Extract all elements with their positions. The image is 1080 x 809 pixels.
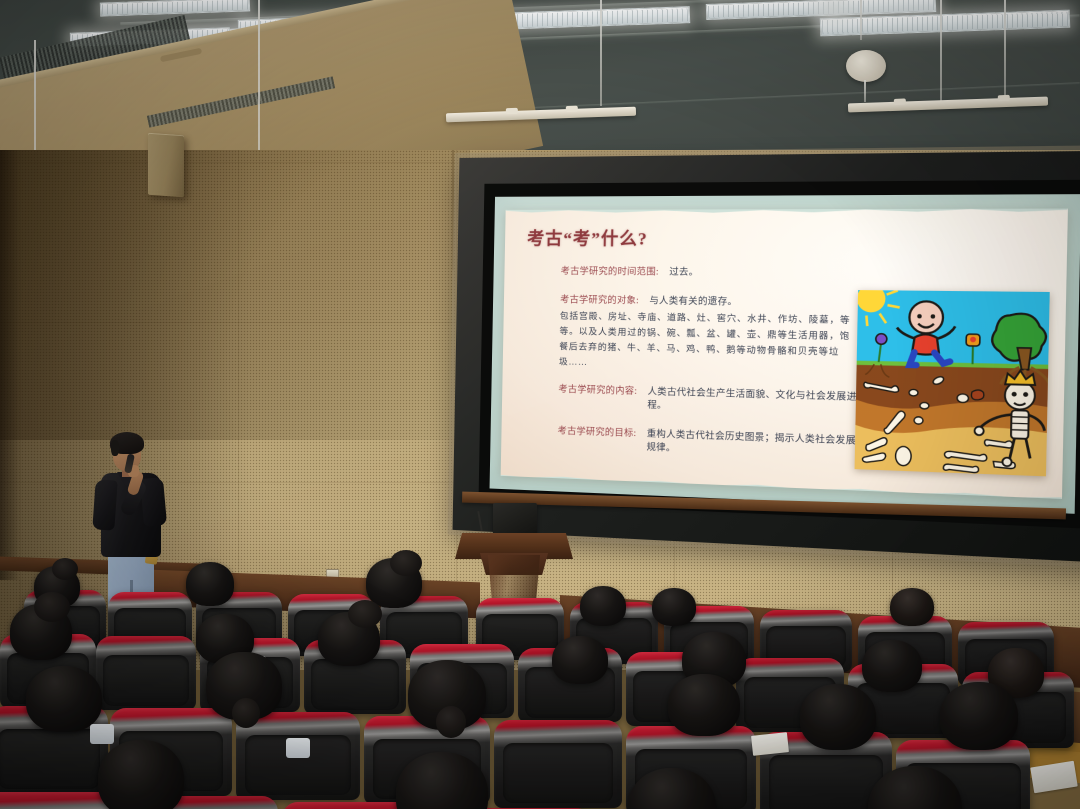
audience-head: [26, 666, 102, 732]
audience-hair-bun: [34, 592, 70, 622]
row-label: 考古学研究的内容:: [558, 381, 637, 396]
slide-row-subject: 考古学研究的对象: 与人类有关的遗存。: [560, 292, 860, 309]
pendant-cap: [506, 108, 518, 114]
audience-head: [552, 636, 608, 684]
wall-corner: [0, 150, 20, 580]
seat[interactable]: [96, 636, 196, 710]
row-value: 过去。: [669, 264, 699, 278]
light-hang-wire: [1004, 0, 1006, 98]
audience-head: [940, 682, 1018, 750]
light-hang-wire: [864, 80, 866, 102]
slide: 考古“考”什么? 考古学研究的时间范围: 过去。 考古学研究的对象: 与人类有关…: [490, 194, 1080, 514]
audience-seating: [0, 556, 1080, 809]
audience-head: [186, 562, 234, 606]
audience-head: [890, 588, 934, 626]
light-hang-wire: [940, 0, 942, 104]
presenter-sleeve-left: [92, 479, 117, 530]
row-label: 考古学研究的时间范围:: [561, 263, 659, 277]
audience-head: [580, 586, 626, 626]
presenter-sideburn: [111, 440, 119, 456]
slide-title: 考古“考”什么?: [527, 224, 1048, 251]
row-value: 人类古代社会生产生活面貌、文化与社会发展进程。: [647, 384, 858, 417]
light-hang-wire: [600, 0, 602, 106]
seat[interactable]: [494, 720, 622, 808]
ceiling-light-panel: [100, 0, 250, 17]
audience-hair-bun: [390, 550, 422, 576]
pendant-cap: [998, 95, 1010, 101]
archaeology-cartoon-illustration: [854, 290, 1049, 476]
audience-head: [668, 674, 740, 736]
audience-hair-bun: [348, 600, 382, 628]
audience-hair-bun: [52, 558, 78, 580]
pendant-cap: [894, 98, 906, 104]
handout-paper: [1030, 761, 1078, 794]
ceiling-speaker-disc: [846, 50, 886, 82]
audience-head: [652, 588, 696, 626]
wall-seam: [452, 150, 454, 270]
pendant-cap: [566, 106, 578, 112]
audience-head: [862, 640, 922, 692]
row-label: 考古学研究的对象:: [560, 292, 639, 306]
wall-speaker: [148, 133, 184, 198]
row-label: 考古学研究的目标:: [558, 423, 637, 439]
slide-row-time-scope: 考古学研究的时间范围: 过去。: [561, 263, 861, 279]
row-value: 与人类有关的遗存。: [649, 293, 737, 308]
audience-head: [98, 740, 184, 809]
slide-body: 考古“考”什么? 考古学研究的时间范围: 过去。 考古学研究的对象: 与人类有关…: [501, 208, 1068, 499]
student-collar: [90, 724, 114, 744]
slide-paragraph: 包括宫殿、房址、寺庙、道路、灶、窖穴、水井、作坊、陵墓，等等。以及人类用过的锅、…: [559, 308, 860, 376]
audience-hair-bun: [232, 698, 260, 728]
handout-paper: [751, 732, 789, 756]
slide-paper-background: 考古“考”什么? 考古学研究的时间范围: 过去。 考古学研究的对象: 与人类有关…: [501, 208, 1068, 499]
audience-hair-bun: [436, 706, 466, 738]
lecture-hall-photo: 考古“考”什么? 考古学研究的时间范围: 过去。 考古学研究的对象: 与人类有关…: [0, 0, 1080, 809]
lectern-monitor[interactable]: [493, 503, 537, 537]
student-collar: [286, 738, 310, 758]
row-value: 重构人类古代社会历史图景；揭示人类社会发展规律。: [646, 426, 857, 460]
slide-content: 考古学研究的时间范围: 过去。 考古学研究的对象: 与人类有关的遗存。 包括宫殿…: [523, 263, 861, 460]
audience-head: [800, 684, 876, 750]
screen-surface: 考古“考”什么? 考古学研究的时间范围: 过去。 考古学研究的对象: 与人类有关…: [478, 180, 1080, 529]
light-hang-wire: [860, 0, 862, 40]
